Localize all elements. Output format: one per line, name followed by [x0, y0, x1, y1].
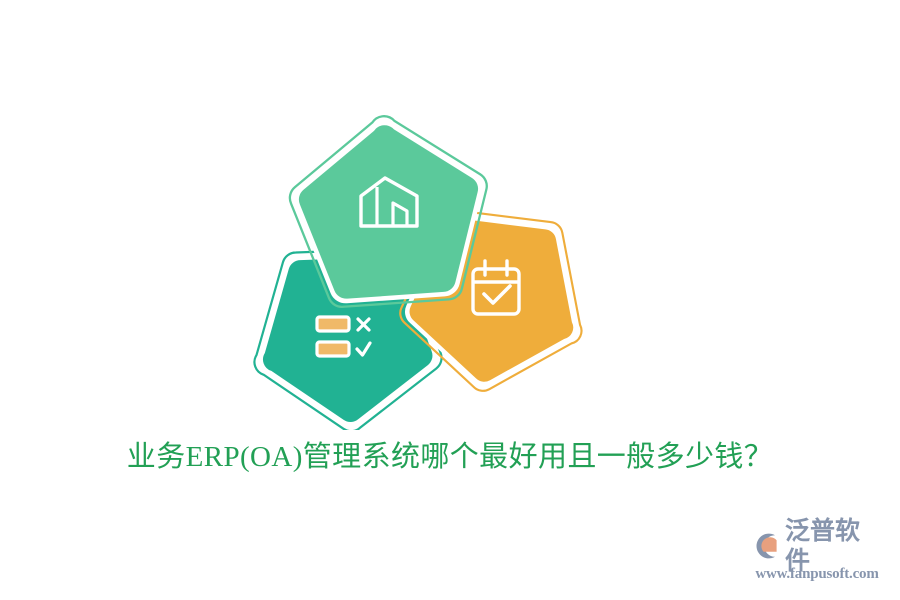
pentagon-green-outline	[285, 109, 495, 310]
fanpu-logo-icon	[752, 531, 782, 561]
pentagon-teal-outline	[223, 217, 456, 430]
pentagon-orange-outline	[384, 180, 619, 420]
pentagon-orange-gap	[393, 189, 609, 410]
pentagon-teal-checklist	[223, 217, 456, 430]
checklist-check-icon	[357, 343, 370, 355]
building-inner-block	[393, 203, 407, 226]
pentagon-teal-body	[235, 228, 446, 430]
watermark-url: www.fanpusoft.com	[752, 565, 882, 583]
pentagon-orange-calendar	[384, 180, 619, 420]
pentagon-teal-gap	[233, 226, 447, 430]
watermark-logo: 泛普软件 www.fanpusoft.com	[752, 528, 882, 586]
building-outline	[361, 178, 417, 226]
checklist-icon	[317, 317, 370, 356]
building-icon	[361, 178, 417, 226]
banner-canvas: 业务ERP(OA)管理系统哪个最好用且一般多少钱？ 泛普软件 www.fanpu…	[0, 0, 900, 600]
page-title: 业务ERP(OA)管理系统哪个最好用且一般多少钱？	[0, 435, 900, 479]
pentagon-green-gap	[293, 117, 487, 303]
calendar-check-mark	[484, 286, 510, 303]
checklist-x-icon	[358, 319, 369, 330]
pentagon-green-body	[294, 119, 485, 302]
pentagon-orange-body	[395, 191, 608, 408]
pentagon-green-building	[285, 109, 495, 310]
watermark-logo-row: 泛普软件	[752, 528, 882, 564]
checklist-bar-2	[317, 342, 349, 356]
calendar-check-icon	[473, 261, 519, 314]
checklist-bar-1	[317, 317, 349, 331]
pentagon-cluster-graphic	[0, 0, 900, 430]
calendar-body	[473, 269, 519, 314]
